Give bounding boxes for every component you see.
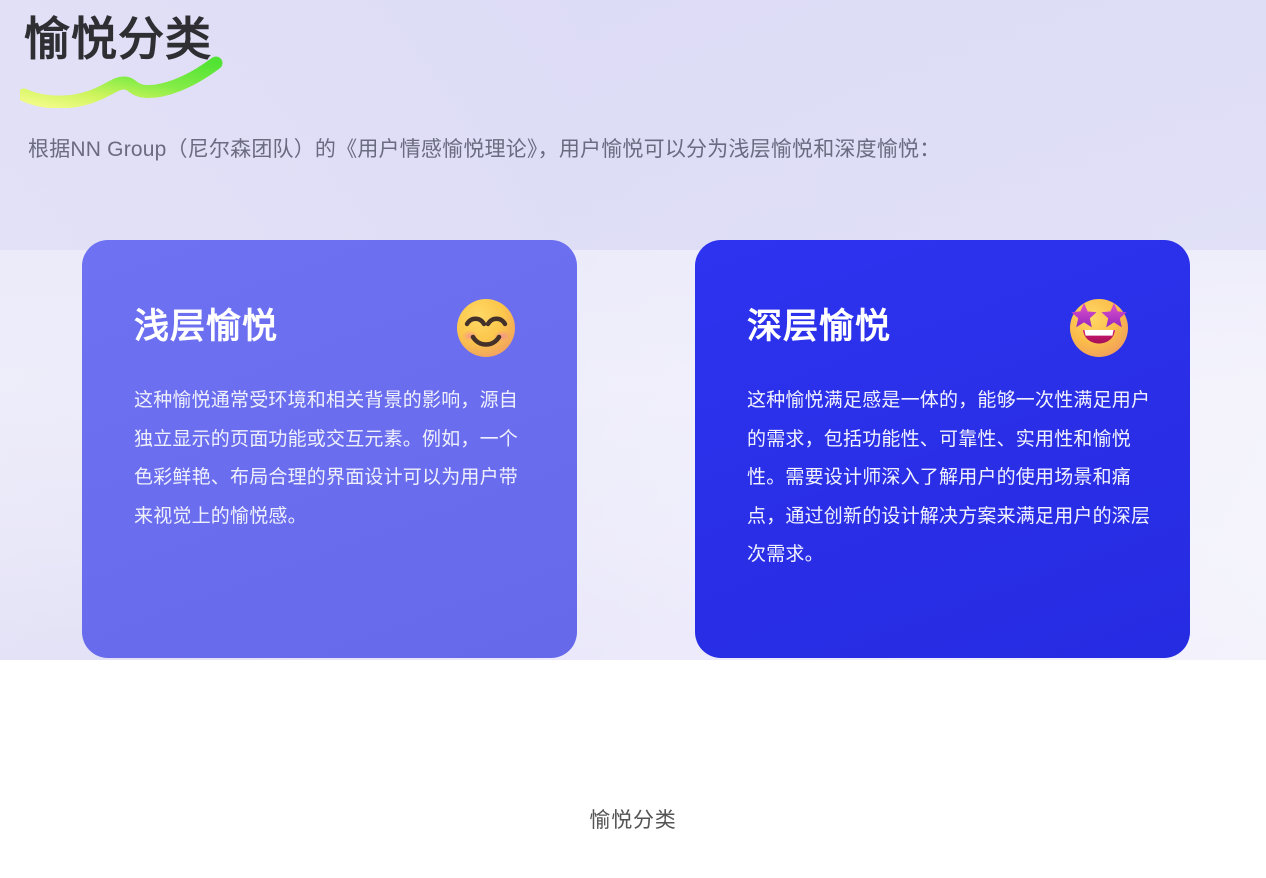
page-header: 愉悦分类: [24, 16, 444, 104]
card-grid: 浅层愉悦: [0, 240, 1266, 660]
smiling-face-with-smiling-eyes-icon: [454, 296, 518, 360]
card-body-deep: 这种愉悦满足感是一体的，能够一次性满足用户的需求，包括功能性、可靠性、实用性和愉…: [747, 382, 1153, 575]
card-title-deep: 深层愉悦: [747, 304, 891, 350]
intro-paragraph: 根据NN Group（尼尔森团队）的《用户情感愉悦理论》，用户愉悦可以分为浅层愉…: [28, 133, 1238, 167]
page-root: 愉悦分类 根据NN Group（尼尔森团队）的《用户情感愉悦理论》，用户愉悦可以…: [0, 0, 1266, 878]
page-title: 愉悦分类: [24, 16, 212, 62]
card-header: 深层愉悦: [747, 298, 1150, 376]
card-body-shallow: 这种愉悦通常受环境和相关背景的影响，源自独立显示的页面功能或交互元素。例如，一个…: [134, 382, 534, 536]
card-shallow-delight[interactable]: 浅层愉悦: [82, 240, 577, 658]
card-deep-delight[interactable]: 深层愉悦: [695, 240, 1190, 658]
brand-lockup: 愉悦分类: [24, 16, 212, 62]
footer-caption: 愉悦分类: [0, 805, 1266, 837]
card-title-shallow: 浅层愉悦: [134, 304, 278, 350]
card-header: 浅层愉悦: [134, 298, 537, 376]
star-struck-face-icon: [1067, 296, 1131, 360]
